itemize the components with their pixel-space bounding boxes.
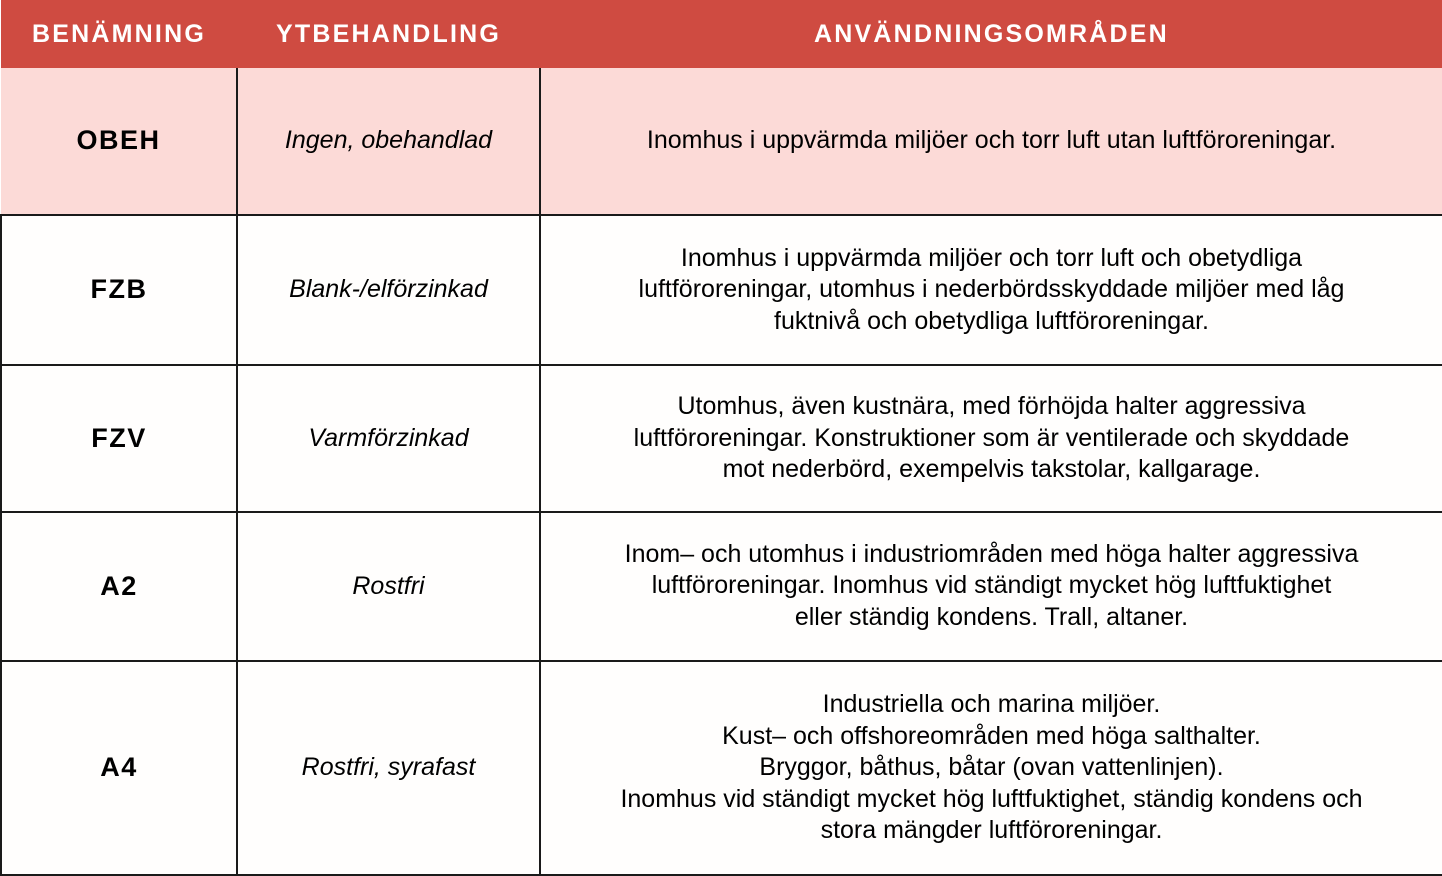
cell-ytbehandling: Rostfri, syrafast <box>237 661 540 875</box>
table-row: FZBBlank-/elförzinkadInomhus i uppvärmda… <box>1 215 1442 365</box>
table-header-row: BENÄMNING YTBEHANDLING ANVÄNDNINGSOMRÅDE… <box>1 0 1442 68</box>
table-row: A2RostfriInom– och utomhus i industriomr… <box>1 512 1442 661</box>
usage-line: eller ständig kondens. Trall, altaner. <box>559 602 1424 634</box>
usage-line: luftföroreningar, utomhus i nederbördssk… <box>559 274 1424 306</box>
cell-anvandningsomraden: Inomhus i uppvärmda miljöer och torr luf… <box>540 215 1442 365</box>
cell-benamning: A2 <box>1 512 237 661</box>
table-row: A4Rostfri, syrafastIndustriella och mari… <box>1 661 1442 875</box>
usage-line: Inom– och utomhus i industriområden med … <box>559 539 1424 571</box>
usage-line: Utomhus, även kustnära, med förhöjda hal… <box>559 391 1424 423</box>
usage-line: mot nederbörd, exempelvis takstolar, kal… <box>559 454 1424 486</box>
cell-anvandningsomraden: Industriella och marina miljöer.Kust– oc… <box>540 661 1442 875</box>
surface-treatment-table: BENÄMNING YTBEHANDLING ANVÄNDNINGSOMRÅDE… <box>0 0 1442 876</box>
table-row: OBEHIngen, obehandladInomhus i uppvärmda… <box>1 68 1442 215</box>
usage-line: luftföroreningar. Konstruktioner som är … <box>559 423 1424 455</box>
usage-line: Inomhus i uppvärmda miljöer och torr luf… <box>559 243 1424 275</box>
usage-line: stora mängder luftföroreningar. <box>559 815 1424 847</box>
cell-anvandningsomraden: Utomhus, även kustnära, med förhöjda hal… <box>540 365 1442 512</box>
cell-benamning: OBEH <box>1 68 237 215</box>
cell-ytbehandling: Varmförzinkad <box>237 365 540 512</box>
cell-anvandningsomraden: Inomhus i uppvärmda miljöer och torr luf… <box>540 68 1442 215</box>
table-row: FZVVarmförzinkadUtomhus, även kustnära, … <box>1 365 1442 512</box>
cell-ytbehandling: Rostfri <box>237 512 540 661</box>
cell-anvandningsomraden: Inom– och utomhus i industriområden med … <box>540 512 1442 661</box>
cell-benamning: FZV <box>1 365 237 512</box>
table-body: OBEHIngen, obehandladInomhus i uppvärmda… <box>1 68 1442 875</box>
usage-line: Industriella och marina miljöer. <box>559 689 1424 721</box>
usage-line: Inomhus i uppvärmda miljöer och torr luf… <box>559 125 1424 157</box>
usage-line: luftföroreningar. Inomhus vid ständigt m… <box>559 570 1424 602</box>
column-header-ytbehandling: YTBEHANDLING <box>237 0 540 68</box>
usage-line: fuktnivå och obetydliga luftföroreningar… <box>559 306 1424 338</box>
column-header-benamning: BENÄMNING <box>1 0 237 68</box>
cell-ytbehandling: Ingen, obehandlad <box>237 68 540 215</box>
cell-benamning: FZB <box>1 215 237 365</box>
usage-line: Bryggor, båthus, båtar (ovan vattenlinje… <box>559 752 1424 784</box>
table-header: BENÄMNING YTBEHANDLING ANVÄNDNINGSOMRÅDE… <box>1 0 1442 68</box>
usage-line: Inomhus vid ständigt mycket hög luftfukt… <box>559 784 1424 816</box>
cell-ytbehandling: Blank-/elförzinkad <box>237 215 540 365</box>
column-header-anvandningsomraden: ANVÄNDNINGSOMRÅDEN <box>540 0 1442 68</box>
cell-benamning: A4 <box>1 661 237 875</box>
usage-line: Kust– och offshoreområden med höga salth… <box>559 721 1424 753</box>
